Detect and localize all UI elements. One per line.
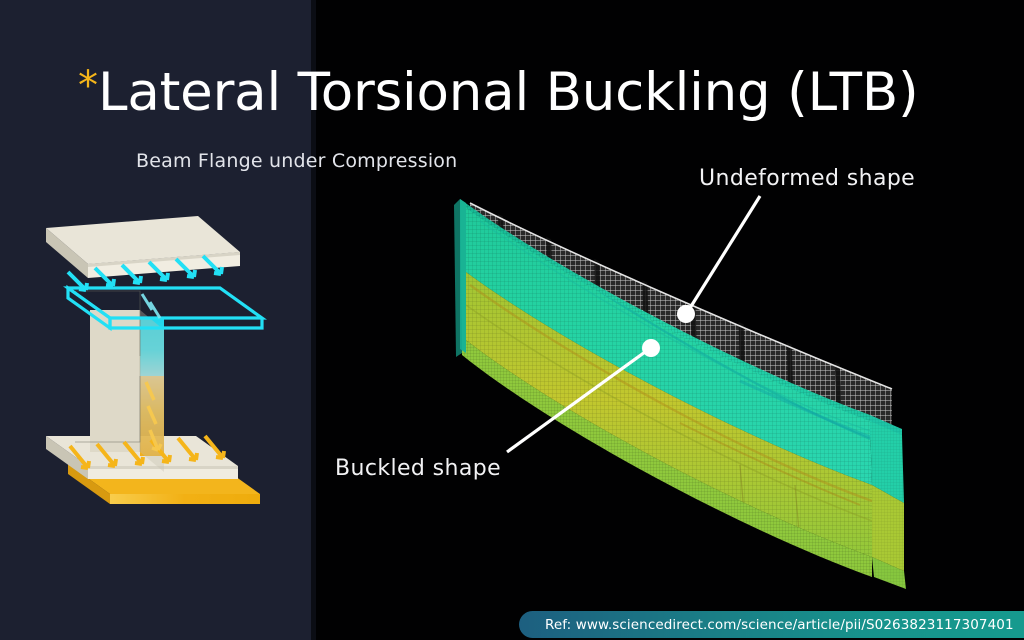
top-flange	[46, 216, 240, 278]
title-text: Lateral Torsional Buckling (LTB)	[98, 62, 918, 124]
reference-bar[interactable]: Ref: www.sciencedirect.com/science/artic…	[519, 611, 1024, 638]
beam-end-cross-section	[870, 415, 906, 590]
annotation-label-undeformed: Undeformed shape	[699, 166, 915, 191]
isometric-i-beam-diagram	[28, 206, 298, 522]
page-title: *Lateral Torsional Buckling (LTB)	[78, 62, 918, 124]
fem-buckled-beam-render	[440, 185, 980, 590]
annotation-label-buckled: Buckled shape	[335, 456, 501, 481]
slide-canvas: *Lateral Torsional Buckling (LTB) Beam F…	[0, 0, 1024, 640]
title-asterisk-icon: *	[78, 66, 98, 106]
reference-text: Ref: www.sciencedirect.com/science/artic…	[519, 617, 1014, 633]
beam-start-cross-section	[454, 199, 466, 357]
subtitle-text: Beam Flange under Compression	[136, 150, 457, 172]
